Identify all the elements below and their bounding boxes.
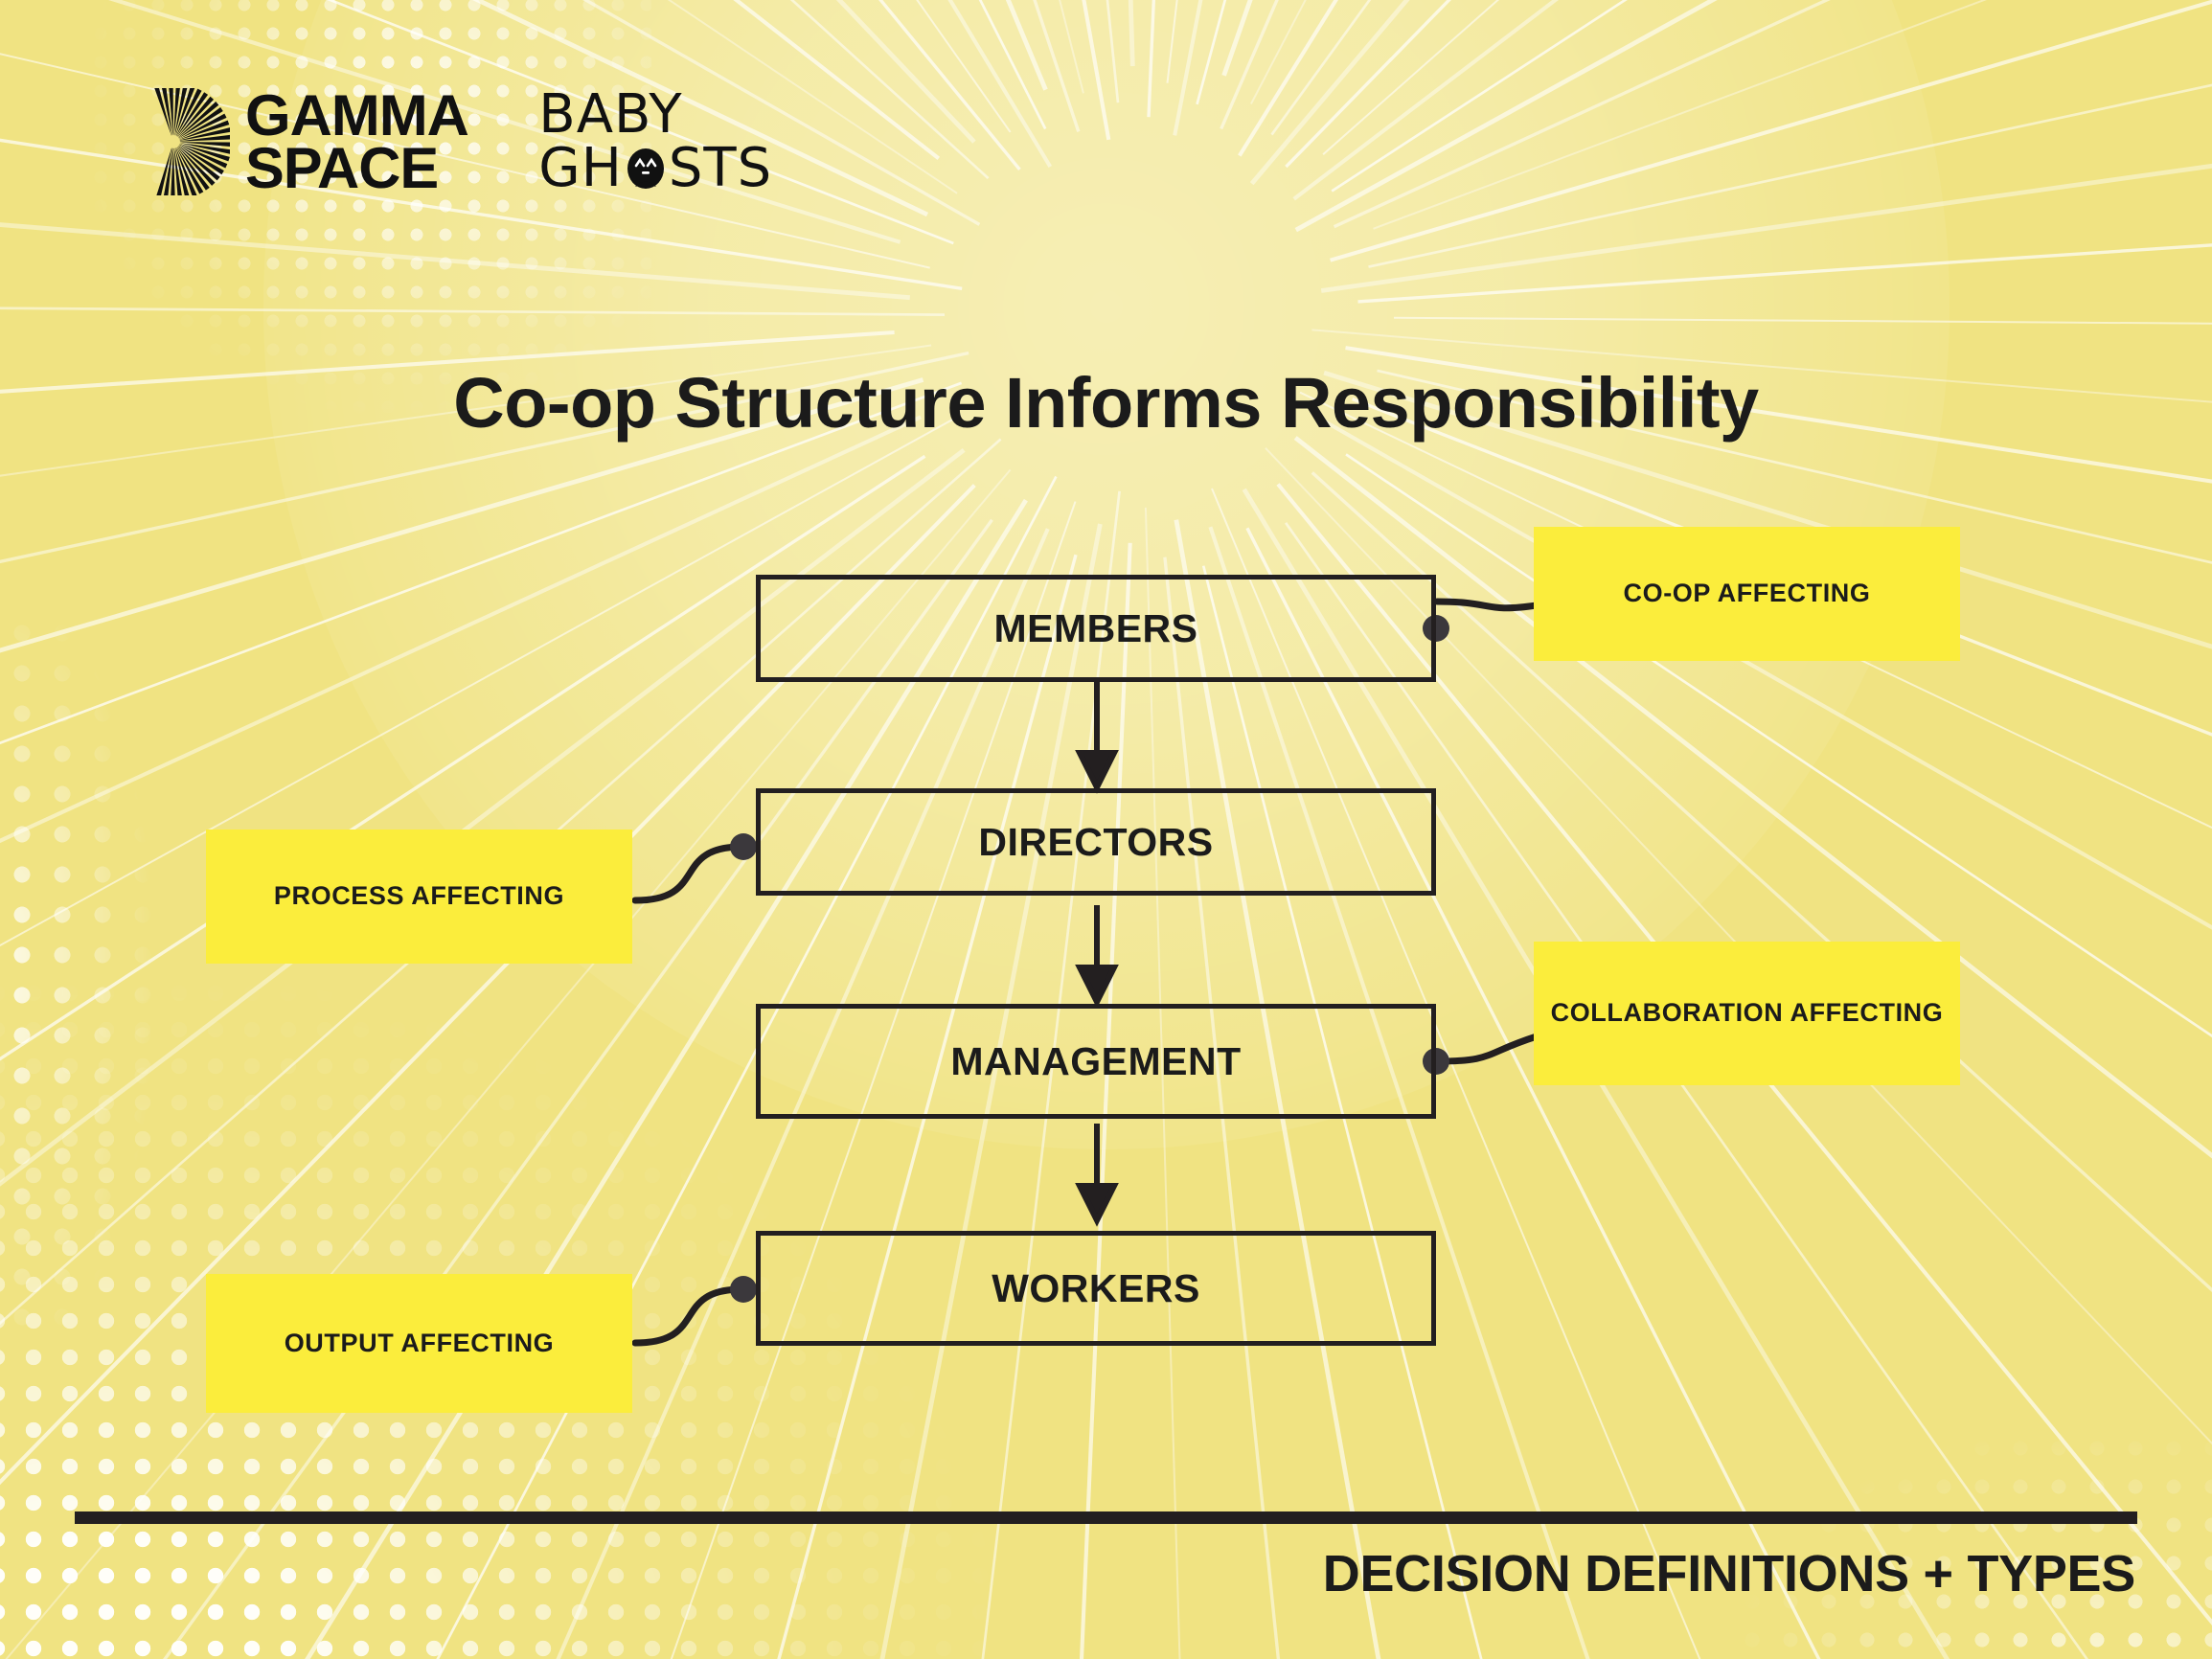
node-workers-label: WORKERS	[992, 1266, 1200, 1311]
connector-dot-workers	[730, 1276, 757, 1303]
leader-collaboration-affecting	[1437, 1036, 1537, 1061]
tag-output-affecting[interactable]: OUTPUT AFFECTING	[206, 1274, 632, 1413]
node-management-label: MANAGEMENT	[950, 1039, 1241, 1084]
slide: GAMMA SPACE BABY GHSTS Co-op Structure I…	[0, 0, 2212, 1659]
footer-section-label: DECISION DEFINITIONS + TYPES	[1323, 1544, 2135, 1603]
tag-co-op-affecting[interactable]: CO-OP AFFECTING	[1534, 527, 1960, 661]
connector-dot-directors	[730, 833, 757, 860]
tag-process-affecting[interactable]: PROCESS AFFECTING	[206, 829, 632, 964]
arrow-members-to-directors-head	[1080, 753, 1114, 787]
tag-collaboration-affecting-label: COLLABORATION AFFECTING	[1551, 994, 1944, 1032]
node-members[interactable]: MEMBERS	[756, 575, 1436, 682]
node-workers[interactable]: WORKERS	[756, 1231, 1436, 1346]
org-flow-diagram: MEMBERS DIRECTORS MANAGEMENT WORKERS CO-…	[0, 0, 2212, 1659]
tag-collaboration-affecting[interactable]: COLLABORATION AFFECTING	[1534, 942, 1960, 1085]
leader-output-affecting	[635, 1289, 742, 1343]
leader-co-op-affecting	[1437, 602, 1537, 608]
arrow-management-to-workers-head	[1080, 1186, 1114, 1220]
node-directors-label: DIRECTORS	[978, 820, 1213, 865]
tag-output-affecting-label: OUTPUT AFFECTING	[285, 1325, 555, 1362]
arrow-directors-to-management-head	[1080, 967, 1114, 1002]
node-management[interactable]: MANAGEMENT	[756, 1004, 1436, 1119]
footer-divider	[75, 1511, 2137, 1524]
tag-process-affecting-label: PROCESS AFFECTING	[274, 877, 564, 915]
tag-co-op-affecting-label: CO-OP AFFECTING	[1624, 575, 1871, 612]
node-directors[interactable]: DIRECTORS	[756, 788, 1436, 896]
leader-process-affecting	[635, 847, 742, 900]
node-members-label: MEMBERS	[993, 606, 1197, 651]
